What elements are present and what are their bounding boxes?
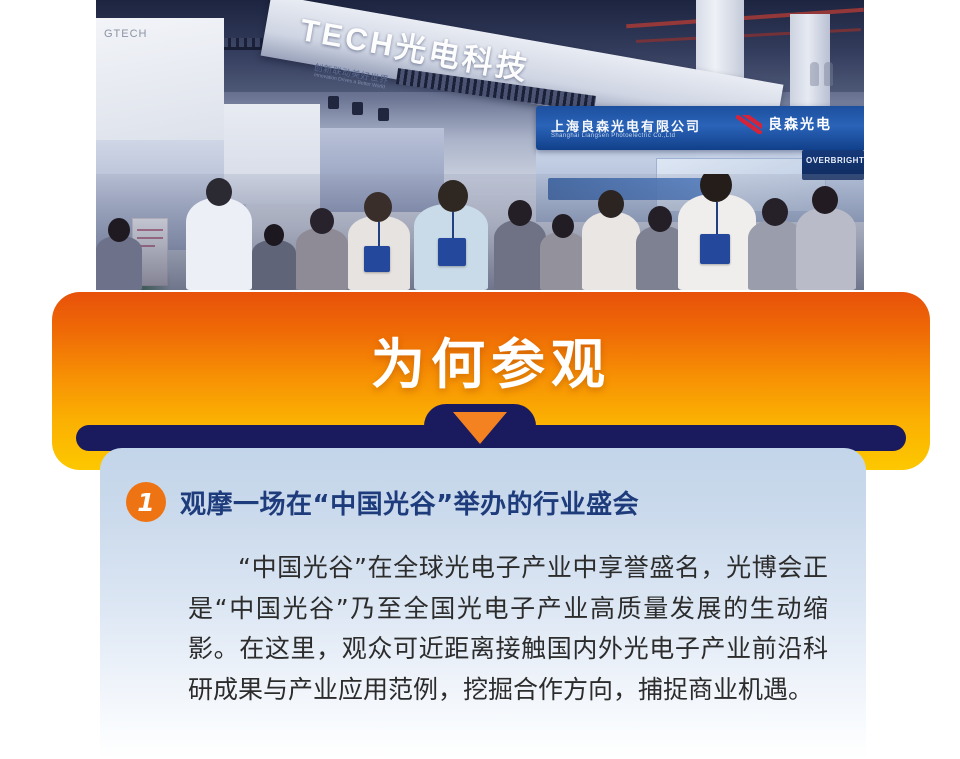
photo-sign-company-en: Shanghai Liangsen Photoelectric Co.,Ltd	[551, 133, 675, 139]
item-number-badge: 1	[126, 482, 166, 522]
content-panel: 1 观摩一场在“中国光谷”举办的行业盛会 “中国光谷”在全球光电子产业中享誉盛名…	[100, 448, 866, 759]
exhibition-photo: GTECH TECH光电科技 创新联动美好世界 Innovation Drive…	[96, 0, 864, 290]
content-heading: 观摩一场在“中国光谷”举办的行业盛会	[180, 484, 639, 521]
photo-sign-gtech: GTECH	[104, 28, 148, 40]
down-arrow-icon	[453, 412, 507, 444]
photo-sign-logo-text: 良森光电	[768, 114, 832, 134]
spotlight-1	[328, 96, 339, 109]
attendee-crowd	[96, 174, 864, 290]
spotlight-3	[378, 108, 389, 121]
photo-sign-right: OVERBRIGHT	[806, 156, 864, 165]
spotlight-2	[352, 102, 363, 115]
content-body-text: “中国光谷”在全球光电子产业中享誉盛名，光博会正是“中国光谷”乃至全国光电子产业…	[188, 548, 828, 710]
liangsen-logo-icon	[736, 115, 762, 134]
section-title: 为何参观	[52, 320, 930, 399]
content-heading-row: 1 观摩一场在“中国光谷”举办的行业盛会	[126, 482, 846, 522]
page-root: GTECH TECH光电科技 创新联动美好世界 Innovation Drive…	[0, 0, 960, 759]
booth-logo: 良森光电	[736, 114, 832, 134]
restroom-pictogram-icon	[810, 62, 840, 88]
